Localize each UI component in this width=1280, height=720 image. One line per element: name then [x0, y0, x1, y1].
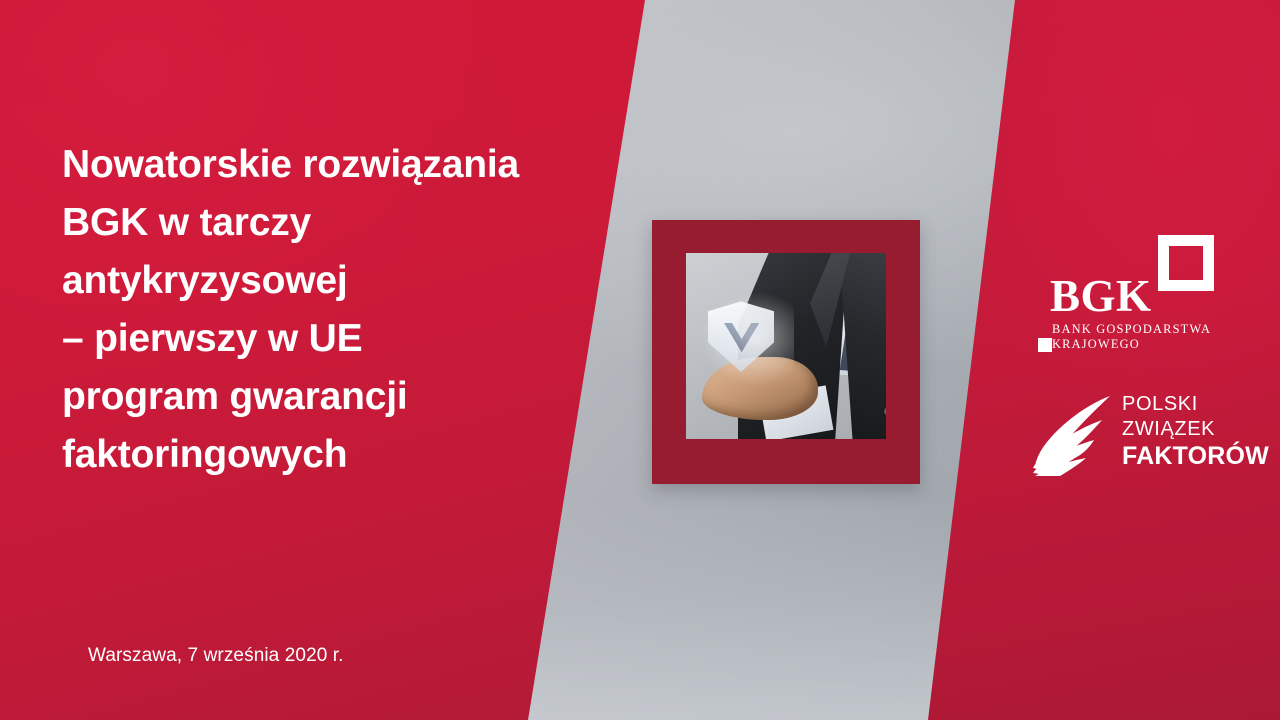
title-line-5: program gwarancji [62, 368, 602, 426]
title-line-1: Nowatorskie rozwiązania [62, 136, 602, 194]
title-line-6: faktoringowych [62, 426, 602, 484]
pzf-line-1: POLSKI [1122, 392, 1269, 417]
businessman-shield-photo [686, 253, 886, 439]
title-line-4: – pierwszy w UE [62, 310, 602, 368]
bgk-outline-square-icon [1158, 235, 1214, 291]
date-location-text: Warszawa, 7 września 2020 r. [88, 645, 344, 667]
pzf-line-2: ZWIĄZEK [1122, 417, 1269, 442]
title-line-2: BGK w tarczy [62, 194, 602, 252]
bgk-solid-square-icon [1038, 338, 1052, 352]
bgk-logo: BGK BANK GOSPODARSTWA KRAJOWEGO [1036, 232, 1222, 356]
checkmark-icon [724, 323, 760, 353]
pzf-logo: POLSKI ZWIĄZEK FAKTORÓW [1030, 392, 1230, 478]
pzf-swoosh-icon [1030, 394, 1116, 476]
photo-frame [652, 220, 920, 484]
pzf-wordmark: POLSKI ZWIĄZEK FAKTORÓW [1122, 392, 1269, 471]
bgk-wordmark: BGK [1050, 274, 1152, 318]
slide-title: Nowatorskie rozwiązania BGK w tarczy ant… [62, 136, 602, 484]
presentation-slide: Nowatorskie rozwiązania BGK w tarczy ant… [0, 0, 1280, 720]
bgk-subtitle: BANK GOSPODARSTWA KRAJOWEGO [1052, 322, 1211, 351]
pzf-line-3: FAKTORÓW [1122, 442, 1269, 471]
bgk-subtitle-line-2: KRAJOWEGO [1052, 337, 1211, 352]
title-line-3: antykryzysowej [62, 252, 602, 310]
bgk-subtitle-line-1: BANK GOSPODARSTWA [1052, 322, 1211, 337]
jacket-button [884, 407, 886, 416]
